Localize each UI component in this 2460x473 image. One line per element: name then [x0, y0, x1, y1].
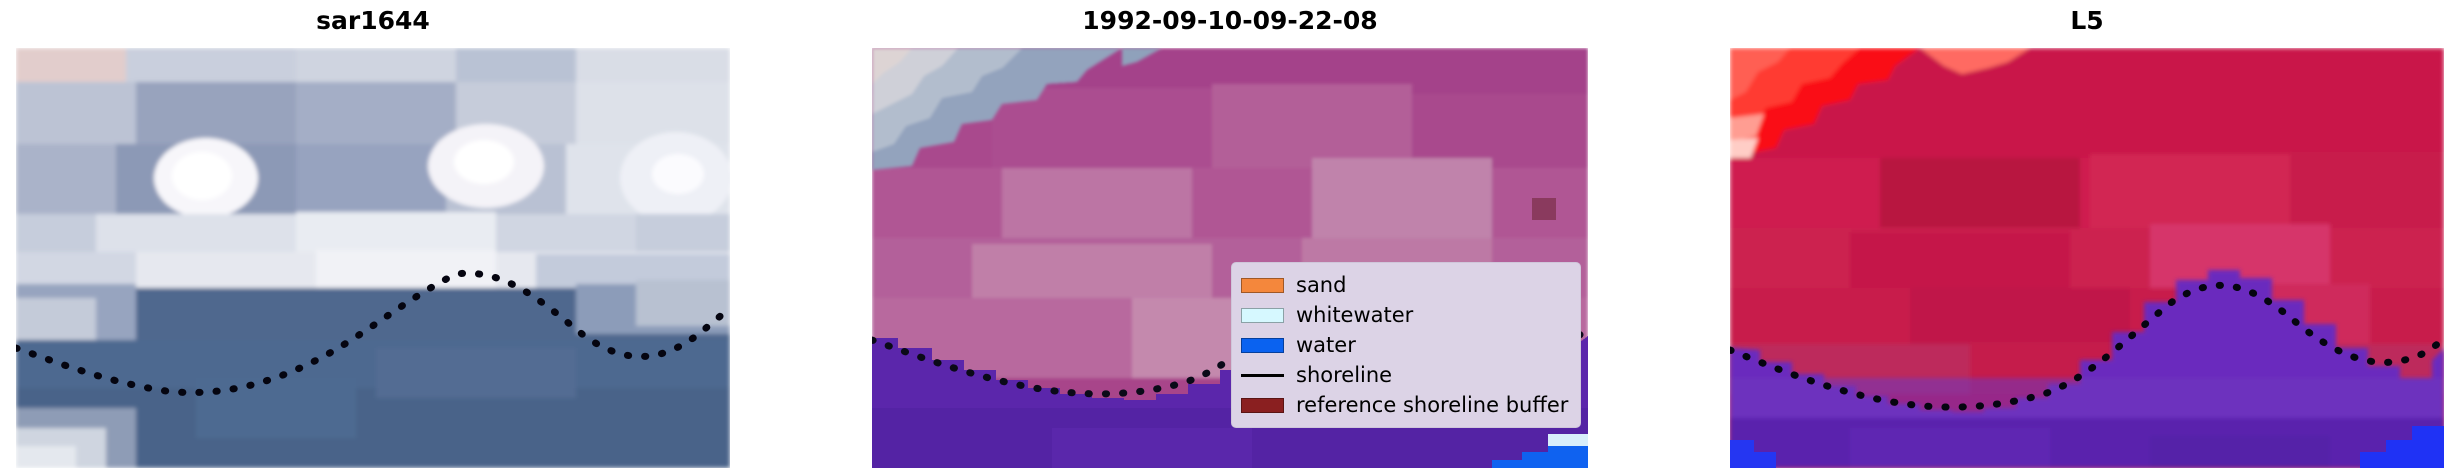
reference-buffer-swatch-icon	[1241, 398, 1284, 413]
sar-shoreline-overlay	[16, 48, 730, 468]
shoreline-line-icon	[1241, 368, 1284, 383]
map-legend[interactable]: sand whitewater water shoreline referenc…	[1231, 262, 1581, 428]
panel-l5[interactable]	[1730, 48, 2444, 468]
l5-shoreline-overlay	[1730, 48, 2444, 468]
panel-sar[interactable]	[16, 48, 730, 468]
sand-swatch-icon	[1241, 278, 1284, 293]
panel-title-l5: L5	[1730, 6, 2444, 36]
legend-label-shoreline: shoreline	[1296, 365, 1392, 386]
figure-canvas: sar1644	[0, 0, 2460, 473]
legend-item-sand[interactable]: sand	[1241, 270, 1571, 300]
water-swatch-icon	[1241, 338, 1284, 353]
legend-item-water[interactable]: water	[1241, 330, 1571, 360]
panel-title-sar: sar1644	[16, 6, 730, 36]
whitewater-swatch-icon	[1241, 308, 1284, 323]
legend-item-reference-shoreline-buffer[interactable]: reference shoreline buffer	[1241, 390, 1571, 420]
legend-item-whitewater[interactable]: whitewater	[1241, 300, 1571, 330]
legend-label-water: water	[1296, 335, 1356, 356]
panel-title-classified: 1992-09-10-09-22-08	[872, 6, 1588, 36]
legend-item-shoreline[interactable]: shoreline	[1241, 360, 1571, 390]
legend-label-whitewater: whitewater	[1296, 305, 1413, 326]
legend-label-sand: sand	[1296, 275, 1346, 296]
legend-label-reference-shoreline-buffer: reference shoreline buffer	[1296, 395, 1568, 416]
